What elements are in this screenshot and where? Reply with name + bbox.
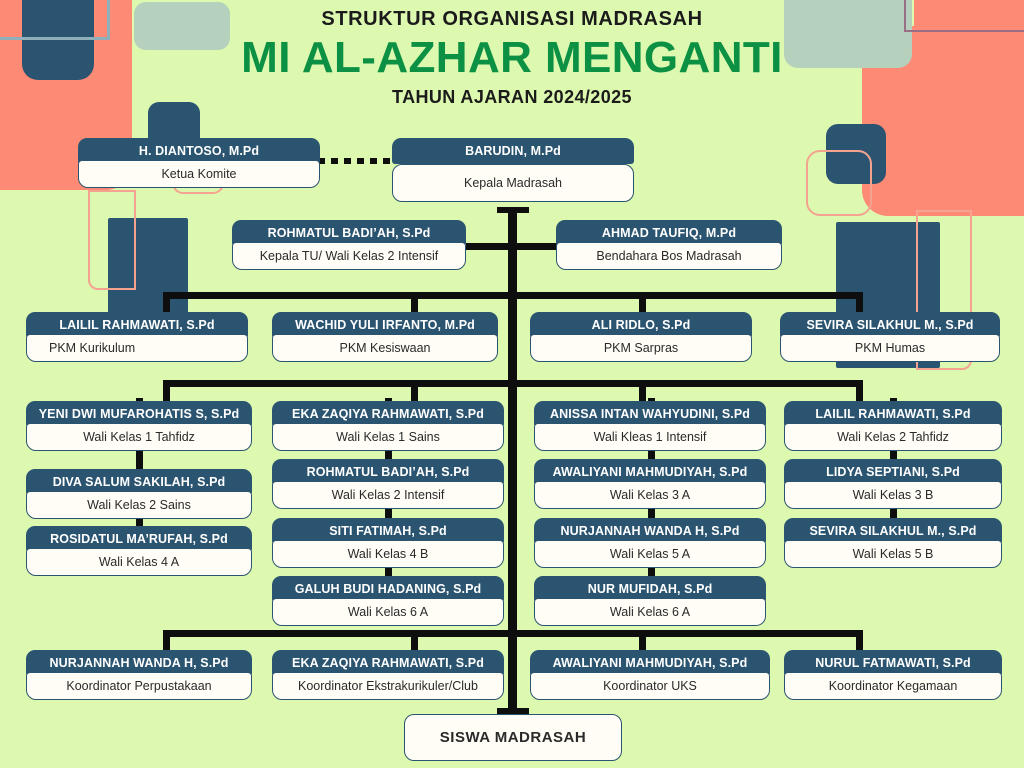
connector-row2-horizontal: [466, 243, 564, 250]
node-role: PKM Kurikulum: [26, 334, 248, 362]
node-role: Koordinator Perpustakaan: [26, 672, 252, 700]
node-ketua-komite[interactable]: H. DIANTOSO, M.Pd Ketua Komite: [78, 138, 320, 188]
node-pkm-humas[interactable]: SEVIRA SILAKHUL M., S.Pd PKM Humas: [780, 312, 1000, 362]
connector-wali-bus: [163, 380, 863, 387]
node-wali-4-2[interactable]: LIDYA SEPTIANI, S.Pd Wali Kelas 3 B: [784, 459, 1002, 509]
connector-wali-drop-3: [639, 380, 646, 402]
node-wali-2-1[interactable]: EKA ZAQIYA RAHMAWATI, S.Pd Wali Kelas 1 …: [272, 401, 504, 451]
node-wali-3-4[interactable]: NUR MUFIDAH, S.Pd Wali Kelas 6 A: [534, 576, 766, 626]
node-role: Wali Kelas 5 A: [534, 540, 766, 568]
connector-komite-kepala: [318, 158, 402, 164]
node-wali-4-1[interactable]: LAILIL RAHMAWATI, S.Pd Wali Kelas 2 Tahf…: [784, 401, 1002, 451]
node-role: PKM Kesiswaan: [272, 334, 498, 362]
node-koordinator-kegamaan[interactable]: NURUL FATMAWATI, S.Pd Koordinator Kegama…: [784, 650, 1002, 700]
node-role: Ketua Komite: [78, 160, 320, 188]
node-role: Wali Kelas 2 Intensif: [272, 481, 504, 509]
node-role: PKM Humas: [780, 334, 1000, 362]
connector-koordinator-drop-4: [856, 630, 863, 652]
connector-pkm-drop-1: [163, 292, 170, 314]
node-wali-2-2[interactable]: ROHMATUL BADI’AH, S.Pd Wali Kelas 2 Inte…: [272, 459, 504, 509]
node-koordinator-uks[interactable]: AWALIYANI MAHMUDIYAH, S.Pd Koordinator U…: [530, 650, 770, 700]
node-role: Wali Kelas 1 Tahfidz: [26, 423, 252, 451]
node-koordinator-perpustakaan[interactable]: NURJANNAH WANDA H, S.Pd Koordinator Perp…: [26, 650, 252, 700]
node-wali-3-2[interactable]: AWALIYANI MAHMUDIYAH, S.Pd Wali Kelas 3 …: [534, 459, 766, 509]
connector-kepala-vertical: [508, 207, 517, 714]
node-role: Wali Kelas 2 Sains: [26, 491, 252, 519]
node-role: Wali Kleas 1 Intensif: [534, 423, 766, 451]
node-role: Wali Kelas 6 A: [534, 598, 766, 626]
connector-pkm-drop-2: [411, 292, 418, 314]
node-wali-4-3[interactable]: SEVIRA SILAKHUL M., S.Pd Wali Kelas 5 B: [784, 518, 1002, 568]
connector-koordinator-bus: [163, 630, 863, 637]
node-role: Koordinator UKS: [530, 672, 770, 700]
node-role: Wali Kelas 5 B: [784, 540, 1002, 568]
node-pkm-sarpras[interactable]: ALI RIDLO, S.Pd PKM Sarpras: [530, 312, 752, 362]
node-role: Bendahara Bos Madrasah: [556, 242, 782, 270]
node-siswa-madrasah[interactable]: SISWA MADRASAH: [404, 714, 622, 761]
node-wali-3-3[interactable]: NURJANNAH WANDA H, S.Pd Wali Kelas 5 A: [534, 518, 766, 568]
node-role: Wali Kelas 4 A: [26, 548, 252, 576]
connector-pkm-bus: [163, 292, 863, 299]
node-role: Koordinator Ekstrakurikuler/Club: [272, 672, 504, 700]
node-kepala-madrasah[interactable]: BARUDIN, M.Pd Kepala Madrasah: [392, 138, 634, 202]
title-line-3: TAHUN AJARAN 2024/2025: [0, 87, 1024, 108]
title-line-2: MI AL-AZHAR MENGANTI: [0, 33, 1024, 83]
connector-wali-drop-4: [856, 380, 863, 402]
node-role: Kepala Madrasah: [392, 164, 634, 202]
node-role: Wali Kelas 6 A: [272, 598, 504, 626]
node-wali-3-1[interactable]: ANISSA INTAN WAHYUDINI, S.Pd Wali Kleas …: [534, 401, 766, 451]
chart-title-block: STRUKTUR ORGANISASI MADRASAH MI AL-AZHAR…: [0, 8, 1024, 108]
connector-koordinator-drop-2: [411, 630, 418, 652]
connector-koordinator-drop-1: [163, 630, 170, 652]
node-wali-2-3[interactable]: SITI FATIMAH, S.Pd Wali Kelas 4 B: [272, 518, 504, 568]
connector-pkm-drop-4: [856, 292, 863, 314]
node-role: Wali Kelas 3 B: [784, 481, 1002, 509]
node-role: Kepala TU/ Wali Kelas 2 Intensif: [232, 242, 466, 270]
node-role: Wali Kelas 4 B: [272, 540, 504, 568]
title-line-1: STRUKTUR ORGANISASI MADRASAH: [0, 8, 1024, 31]
node-name: BARUDIN, M.Pd: [392, 138, 634, 164]
node-role: PKM Sarpras: [530, 334, 752, 362]
node-pkm-kurikulum[interactable]: LAILIL RAHMAWATI, S.Pd PKM Kurikulum: [26, 312, 248, 362]
node-bendahara[interactable]: AHMAD TAUFIQ, M.Pd Bendahara Bos Madrasa…: [556, 220, 782, 270]
connector-koordinator-drop-3: [639, 630, 646, 652]
node-pkm-kesiswaan[interactable]: WACHID YULI IRFANTO, M.Pd PKM Kesiswaan: [272, 312, 498, 362]
node-kepala-tu[interactable]: ROHMATUL BADI’AH, S.Pd Kepala TU/ Wali K…: [232, 220, 466, 270]
node-role: Wali Kelas 3 A: [534, 481, 766, 509]
connector-pkm-drop-3: [639, 292, 646, 314]
node-role: Wali Kelas 1 Sains: [272, 423, 504, 451]
node-wali-2-4[interactable]: GALUH BUDI HADANING, S.Pd Wali Kelas 6 A: [272, 576, 504, 626]
node-wali-1-3[interactable]: ROSIDATUL MA’RUFAH, S.Pd Wali Kelas 4 A: [26, 526, 252, 576]
connector-wali-drop-2: [411, 380, 418, 402]
node-role: Koordinator Kegamaan: [784, 672, 1002, 700]
node-role: Wali Kelas 2 Tahfidz: [784, 423, 1002, 451]
node-wali-1-2[interactable]: DIVA SALUM SAKILAH, S.Pd Wali Kelas 2 Sa…: [26, 469, 252, 519]
connector-wali-drop-1: [163, 380, 170, 402]
node-koordinator-ekstrakurikuler[interactable]: EKA ZAQIYA RAHMAWATI, S.Pd Koordinator E…: [272, 650, 504, 700]
node-wali-1-1[interactable]: YENI DWI MUFAROHATIS S, S.Pd Wali Kelas …: [26, 401, 252, 451]
node-name: SISWA MADRASAH: [404, 714, 622, 761]
